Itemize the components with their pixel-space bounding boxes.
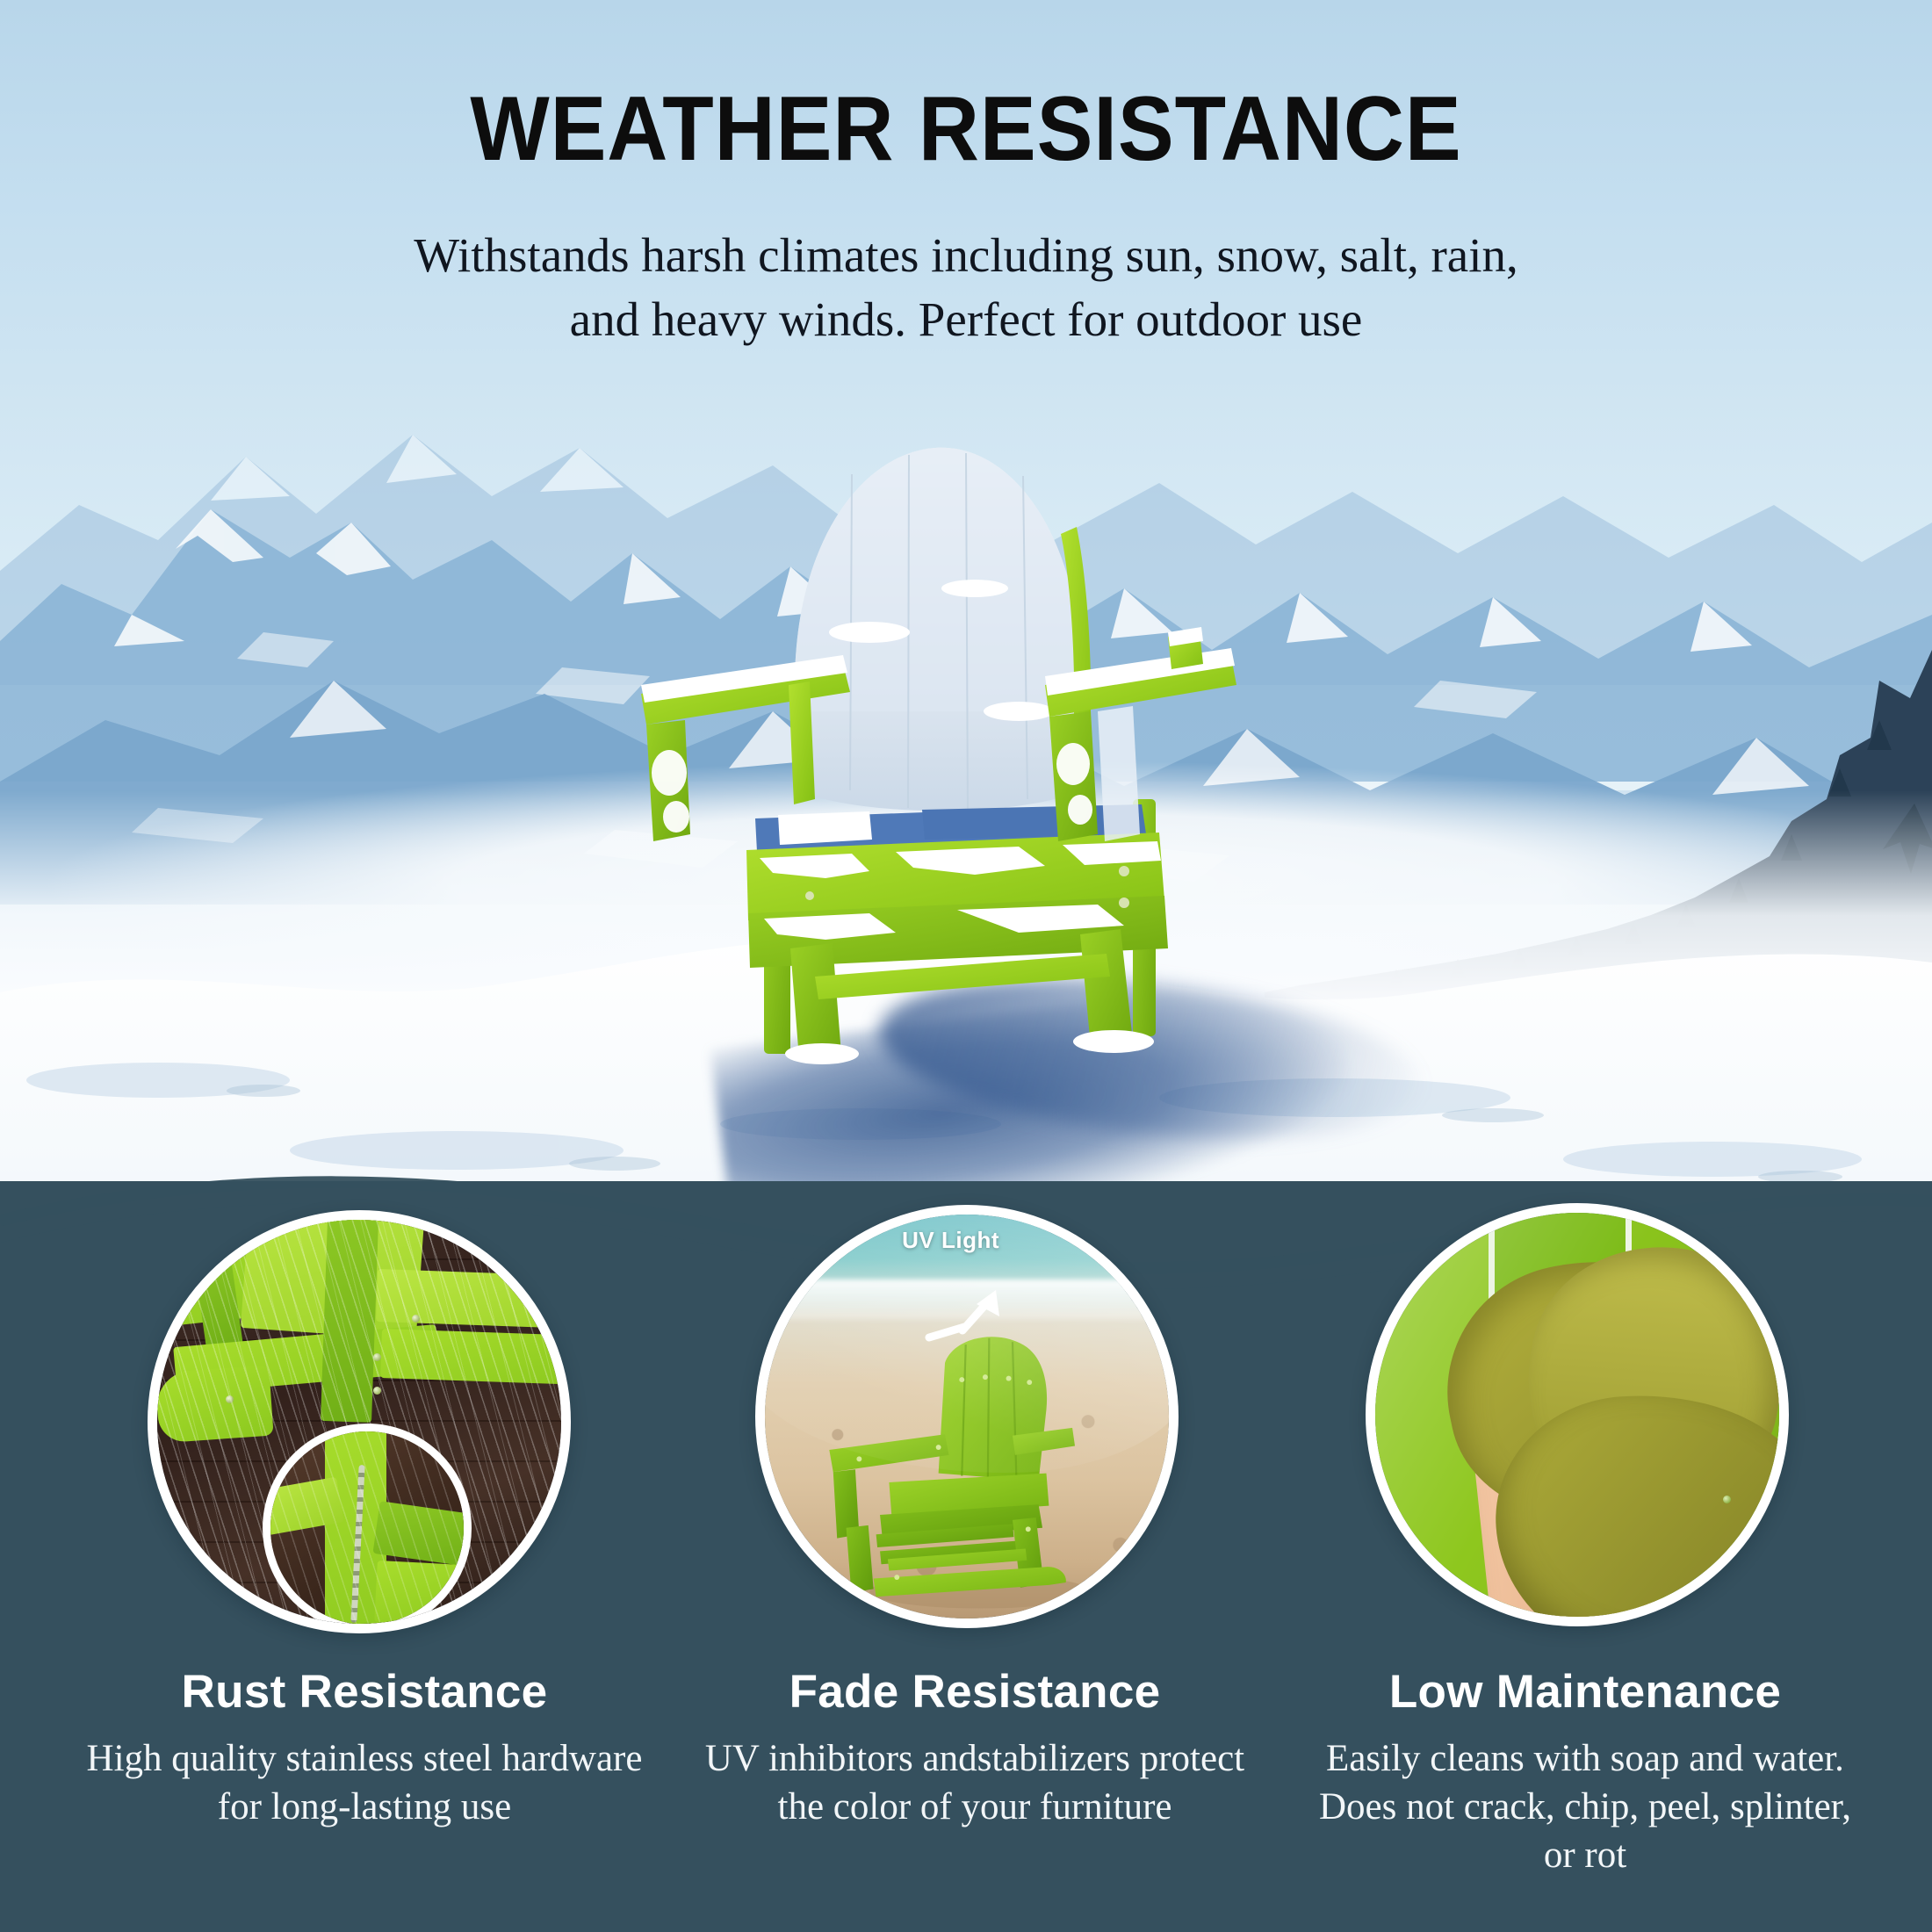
cleaning-scene <box>1375 1213 1779 1617</box>
feature-image-fade-resistance: UV Light <box>755 1205 1179 1628</box>
screw-head <box>1723 1496 1731 1503</box>
page-subtitle: Withstands harsh climates including sun,… <box>0 224 1932 351</box>
feature-body-rust: High quality stainless steel hardware fo… <box>83 1734 645 1831</box>
feature-block-rust-resistance: Rust Resistance High quality stainless s… <box>83 1669 645 1831</box>
feature-title-rust: Rust Resistance <box>83 1669 645 1715</box>
feature-image-low-maintenance <box>1366 1203 1789 1626</box>
feature-block-fade-resistance: Fade Resistance UV inhibitors andstabili… <box>694 1669 1256 1831</box>
feature-title-low: Low Maintenance <box>1304 1669 1866 1715</box>
rain-on-chair-scene <box>157 1220 561 1624</box>
snow-covered-adirondack-chair <box>606 422 1273 1071</box>
weather-resistance-infographic: WEATHER RESISTANCE Withstands harsh clim… <box>0 0 1932 1932</box>
feature-body-low: Easily cleans with soap and water. Does … <box>1304 1734 1866 1879</box>
beach-chair-scene: UV Light <box>765 1215 1169 1618</box>
subtitle-line-2: and heavy winds. Perfect for outdoor use <box>0 288 1932 352</box>
subtitle-line-1: Withstands harsh climates including sun,… <box>0 224 1932 288</box>
uv-arrow-icon <box>919 1283 1024 1353</box>
page-title: WEATHER RESISTANCE <box>77 83 1855 175</box>
feature-title-fade: Fade Resistance <box>694 1669 1256 1715</box>
rain-streaks <box>263 1424 472 1633</box>
inset-stainless-chain-closeup <box>263 1424 472 1633</box>
feature-body-fade: UV inhibitors andstabilizers protect the… <box>694 1734 1256 1831</box>
feature-image-rust-resistance <box>148 1210 571 1633</box>
feature-block-low-maintenance: Low Maintenance Easily cleans with soap … <box>1304 1669 1866 1879</box>
uv-light-label: UV Light <box>902 1227 999 1254</box>
